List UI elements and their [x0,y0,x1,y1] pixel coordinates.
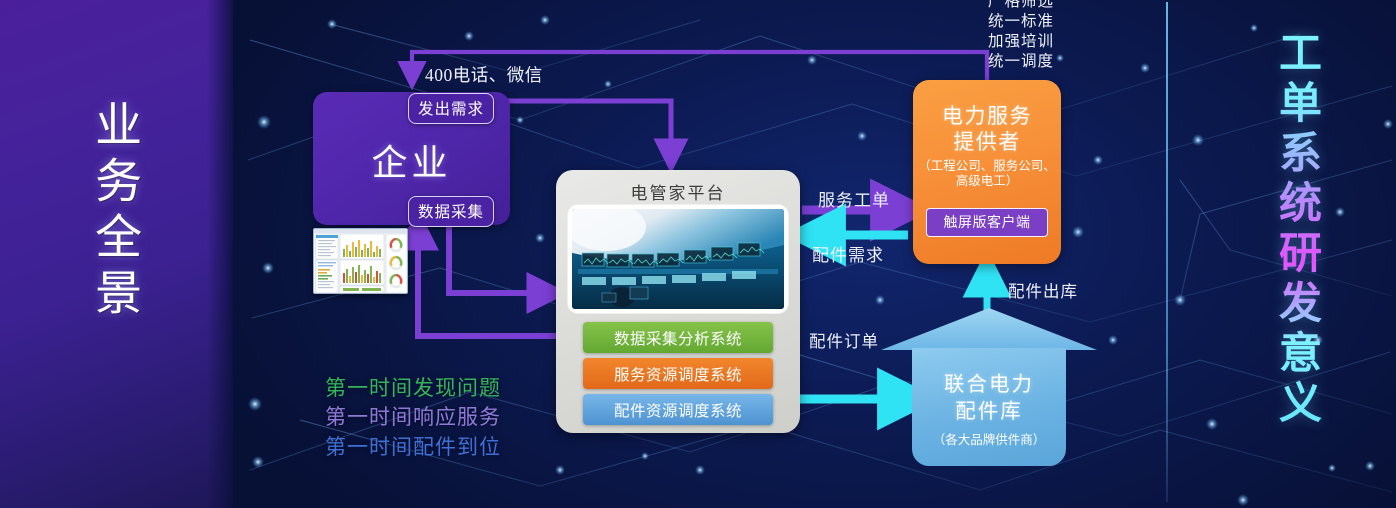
provider-node[interactable]: 电力服务 提供者 （工程公司、服务公司、高级电工） 触屏版客户端 [913,80,1061,264]
slogan-item-2: 第一时间配件到位 [325,433,501,462]
touchscreen-client-button[interactable]: 触屏版客户端 [926,208,1048,237]
platform-title: 电管家平台 [556,179,800,204]
system-button-service-dispatch[interactable]: 服务资源调度系统 [583,358,773,389]
platform-node[interactable]: 电管家平台 [556,170,800,433]
warehouse-node[interactable]: 联合电力 配件库 （各大品牌供件商） [881,308,1097,466]
warehouse-title: 联合电力 配件库 [912,372,1066,425]
slogan-item-1: 第一时间响应服务 [325,403,501,432]
label-service-work-order: 服务工单 [818,186,890,211]
label-parts-outbound: 配件出库 [1008,278,1078,302]
slogan-item-0: 第一时间发现问题 [325,374,501,403]
system-button-data-collection[interactable]: 数据采集分析系统 [583,322,773,353]
warehouse-title-line1: 联合电力 [912,372,1066,399]
provider-title-line1: 电力服务 [913,103,1061,129]
control-room-photo [572,209,784,309]
warehouse-subtitle: （各大品牌供件商） [912,429,1066,448]
label-parts-request: 配件需求 [812,241,884,266]
badge-send-demand[interactable]: 发出需求 [408,93,494,124]
provider-title-line2: 提供者 [913,129,1061,155]
system-button-parts-dispatch[interactable]: 配件资源调度系统 [583,394,773,425]
label-phone-wechat: 400电话、微信 [425,62,543,87]
provider-note-1: 统一标准 [988,12,1054,32]
platform-screen-frame [567,204,789,314]
provider-note-2: 加强培训 [988,32,1054,52]
enterprise-label: 企业 [313,134,510,186]
provider-note-0: 严格筛选 [988,0,1054,12]
provider-subtitle: （工程公司、服务公司、高级电工） [913,159,1061,190]
slide-canvas: 业务全景 工单系统研发意义 [0,0,1396,508]
dashboard-thumbnail-image [314,229,408,294]
provider-note-3: 统一调度 [988,52,1054,72]
warehouse-body: 联合电力 配件库 （各大品牌供件商） [912,348,1066,466]
warehouse-title-line2: 配件库 [912,399,1066,426]
slogan-list: 第一时间发现问题 第一时间响应服务 第一时间配件到位 [325,374,501,462]
provider-title: 电力服务 提供者 [913,103,1061,156]
label-parts-order: 配件订单 [809,328,879,352]
provider-notes-list: 严格筛选 统一标准 加强培训 统一调度 [988,0,1054,73]
badge-data-collection[interactable]: 数据采集 [408,196,494,227]
warehouse-roof-shape [881,308,1097,350]
dashboard-thumbnail[interactable] [313,228,408,294]
